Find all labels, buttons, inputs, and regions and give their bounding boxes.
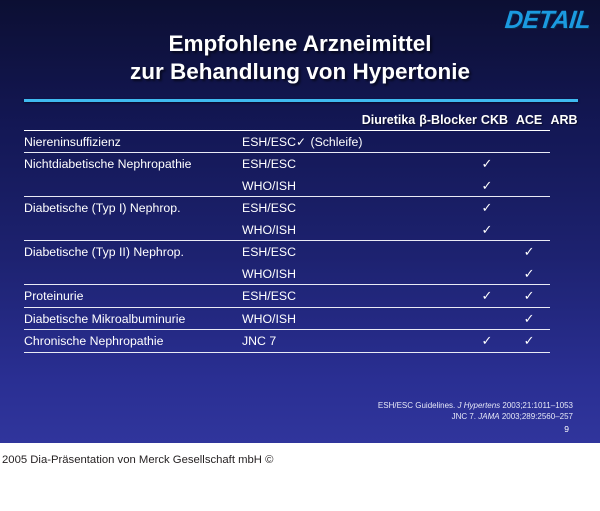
cell-condition: Niereninsuffizienz (24, 131, 242, 153)
column-header-ace-label: ACE (516, 113, 542, 127)
citation-2-journal: JAMA (478, 412, 499, 421)
cell-ckb (418, 175, 466, 197)
check-icon: ✓ (482, 288, 493, 303)
cell-ace: ✓ (466, 285, 508, 307)
cell-ckb (418, 330, 466, 352)
column-header-beta-blocker: β-Blocker (419, 113, 477, 127)
cell-ace: ✓ (466, 197, 508, 218)
cell-arb: ✓ (508, 263, 550, 285)
cell-arb (508, 153, 550, 174)
cell-source: ESH/ESC (242, 153, 418, 174)
citation-block: ESH/ESC Guidelines. J Hypertens 2003;21:… (378, 400, 573, 422)
cell-ace (466, 263, 508, 285)
column-header-condition (24, 113, 242, 131)
cell-ace: ✓ (466, 219, 508, 241)
cell-source: WHO/ISH (242, 219, 418, 241)
column-header-arb: ARB (550, 113, 578, 131)
cell-ckb (418, 153, 466, 174)
inline-check-icon: ✓ (296, 135, 306, 149)
slide: DETAIL Empfohlene Arzneimittel zur Behan… (0, 0, 600, 443)
cell-arb (508, 197, 550, 218)
cell-arb: ✓ (508, 241, 550, 262)
cell-arb: ✓ (508, 285, 550, 307)
column-header-arb-label: ARB (550, 113, 577, 127)
table-grid: Diuretikaβ-BlockerCKB ACE ARB Niereninsu… (24, 113, 578, 353)
table-header-row: Diuretikaβ-BlockerCKB ACE ARB (24, 113, 578, 131)
cell-ckb (418, 241, 466, 262)
cell-arb: ✓ (508, 330, 550, 352)
cell-source: ESH/ESC✓ (Schleife) (242, 131, 418, 153)
cell-ckb (418, 197, 466, 218)
cell-condition: Diabetische (Typ II) Nephrop. (24, 241, 242, 284)
cell-arb (508, 219, 550, 241)
cell-source: ESH/ESC (242, 241, 418, 262)
row-separator (24, 352, 578, 353)
cell-ckb (418, 131, 466, 153)
cell-ace: ✓ (466, 153, 508, 174)
title-line-1: Empfohlene Arzneimittel (169, 31, 432, 56)
check-icon: ✓ (482, 178, 493, 193)
column-header-diuretika: Diuretika (362, 113, 416, 127)
cell-ace (466, 308, 508, 330)
recommendations-table: Diuretikaβ-BlockerCKB ACE ARB Niereninsu… (24, 113, 578, 353)
cell-condition: Diabetische Mikroalbuminurie (24, 308, 242, 330)
title-line-2: zur Behandlung von Hypertonie (0, 58, 600, 86)
column-header-group: Diuretikaβ-BlockerCKB (242, 113, 508, 131)
citation-1-suffix: 2003;21:1011–1053 (500, 401, 573, 410)
citation-2-suffix: 2003;289:2560–257 (500, 412, 573, 421)
cell-ckb (418, 263, 466, 285)
cell-condition: Chronische Nephropathie (24, 330, 242, 352)
table-row: NiereninsuffizienzESH/ESC✓ (Schleife) (24, 131, 578, 153)
check-icon: ✓ (482, 200, 493, 215)
cell-ckb (418, 308, 466, 330)
footer-bar: 2005 Dia-Präsentation von Merck Gesellsc… (0, 443, 600, 511)
table-row: Diabetische (Typ I) Nephrop.ESH/ESC✓ (24, 197, 578, 218)
title-accent-rule (24, 99, 578, 102)
table-row: Chronische NephropathieJNC 7✓✓ (24, 330, 578, 352)
cell-arb (508, 175, 550, 197)
cell-source: JNC 7 (242, 330, 418, 352)
citation-2-prefix: JNC 7. (452, 412, 479, 421)
citation-1-prefix: ESH/ESC Guidelines. (378, 401, 458, 410)
cell-ace (466, 131, 508, 153)
citation-line-2: JNC 7. JAMA 2003;289:2560–257 (378, 411, 573, 422)
table-body: NiereninsuffizienzESH/ESC✓ (Schleife)Nic… (24, 131, 578, 353)
check-icon: ✓ (524, 244, 535, 259)
cell-source: WHO/ISH (242, 263, 418, 285)
check-icon: ✓ (482, 156, 493, 171)
cell-condition: Nichtdiabetische Nephropathie (24, 153, 242, 196)
cell-ace (466, 241, 508, 262)
cell-source: ESH/ESC (242, 285, 418, 307)
check-icon: ✓ (482, 222, 493, 237)
table-head: Diuretikaβ-BlockerCKB ACE ARB (24, 113, 578, 131)
citation-line-1: ESH/ESC Guidelines. J Hypertens 2003;21:… (378, 400, 573, 411)
citation-1-journal: J Hypertens (458, 401, 501, 410)
table-row: ProteinurieESH/ESC✓✓ (24, 285, 578, 307)
cell-source: WHO/ISH (242, 308, 418, 330)
slide-page-number: 9 (564, 424, 569, 434)
check-icon: ✓ (524, 333, 535, 348)
cell-condition: Diabetische (Typ I) Nephrop. (24, 197, 242, 240)
cell-ckb (418, 219, 466, 241)
cell-ckb (418, 285, 466, 307)
check-icon: ✓ (524, 266, 535, 281)
column-header-ckb: CKB (481, 113, 508, 127)
cell-source: WHO/ISH (242, 175, 418, 197)
table-row: Diabetische (Typ II) Nephrop.ESH/ESC✓ (24, 241, 578, 262)
cell-source: ESH/ESC (242, 197, 418, 218)
check-icon: ✓ (524, 288, 535, 303)
check-icon: ✓ (524, 311, 535, 326)
cell-condition: Proteinurie (24, 285, 242, 307)
cell-ace: ✓ (466, 175, 508, 197)
cell-arb (508, 131, 550, 153)
footer-credit: 2005 Dia-Präsentation von Merck Gesellsc… (2, 454, 273, 466)
cell-ace: ✓ (466, 330, 508, 352)
cell-arb: ✓ (508, 308, 550, 330)
page-title: Empfohlene Arzneimittel zur Behandlung v… (0, 30, 600, 87)
column-header-ace: ACE (508, 113, 550, 131)
table-row: Nichtdiabetische NephropathieESH/ESC✓ (24, 153, 578, 174)
check-icon: ✓ (482, 333, 493, 348)
table-row: Diabetische MikroalbuminurieWHO/ISH✓ (24, 308, 578, 330)
